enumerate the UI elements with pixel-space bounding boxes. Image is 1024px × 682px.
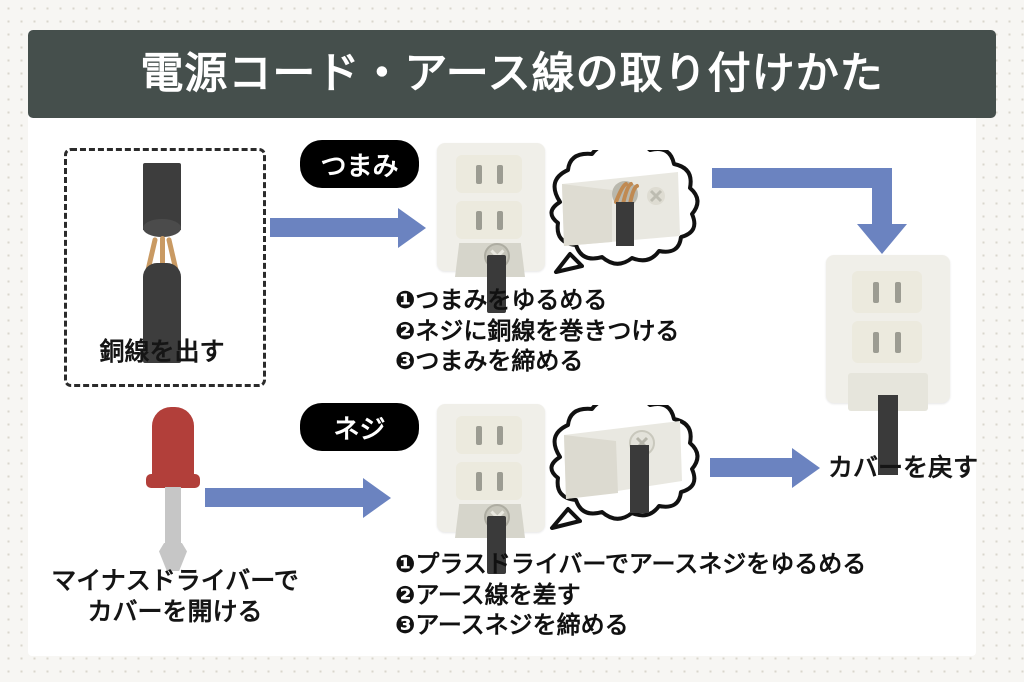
- boxed-step-caption: 銅線を出す: [64, 332, 260, 368]
- completed-outlet-with-cover-icon: [826, 255, 950, 403]
- step-list-knob: ❶つまみをゆるめる ❷ネジに銅線を巻きつける ❸つまみを締める: [395, 285, 679, 377]
- tool-step-caption-line2: カバーを開ける: [40, 596, 310, 627]
- arrow-right-icon: [205, 478, 391, 518]
- screwdriver-collar-icon: [146, 474, 200, 488]
- arrow-right-icon: [270, 208, 426, 248]
- badge-screw: ネジ: [300, 403, 419, 451]
- cable-cut-end-icon: [143, 219, 181, 237]
- step-item: ❷ネジに銅線を巻きつける: [395, 316, 679, 347]
- step-item: ❸アースネジを締める: [395, 610, 866, 641]
- arrow-right-down-elbow-icon: [712, 168, 917, 268]
- tool-step-caption: マイナスドライバーで カバーを開ける: [40, 565, 310, 628]
- tool-step-caption-line1: マイナスドライバーで: [40, 565, 310, 596]
- step-item: ❸つまみを締める: [395, 346, 679, 377]
- step-item: ❶つまみをゆるめる: [395, 285, 679, 316]
- screwdriver-handle-icon: [152, 407, 194, 482]
- step-list-ground-screw: ❶プラスドライバーでアースネジをゆるめる ❷アース線を差す ❸アースネジを締める: [395, 549, 866, 641]
- magnified-screw-with-copper-wire-icon: [520, 150, 710, 280]
- step-item: ❷アース線を差す: [395, 580, 866, 611]
- step-item: ❶プラスドライバーでアースネジをゆるめる: [395, 549, 866, 580]
- arrow-right-icon: [710, 448, 820, 488]
- result-caption: カバーを戻す: [818, 448, 988, 484]
- title-bar: 電源コード・アース線の取り付けかた: [28, 30, 996, 118]
- magnified-ground-screw-with-wire-icon: [520, 405, 710, 537]
- badge-knob: つまみ: [300, 140, 419, 188]
- screwdriver-shaft-icon: [165, 487, 181, 549]
- page-title: 電源コード・アース線の取り付けかた: [140, 53, 883, 96]
